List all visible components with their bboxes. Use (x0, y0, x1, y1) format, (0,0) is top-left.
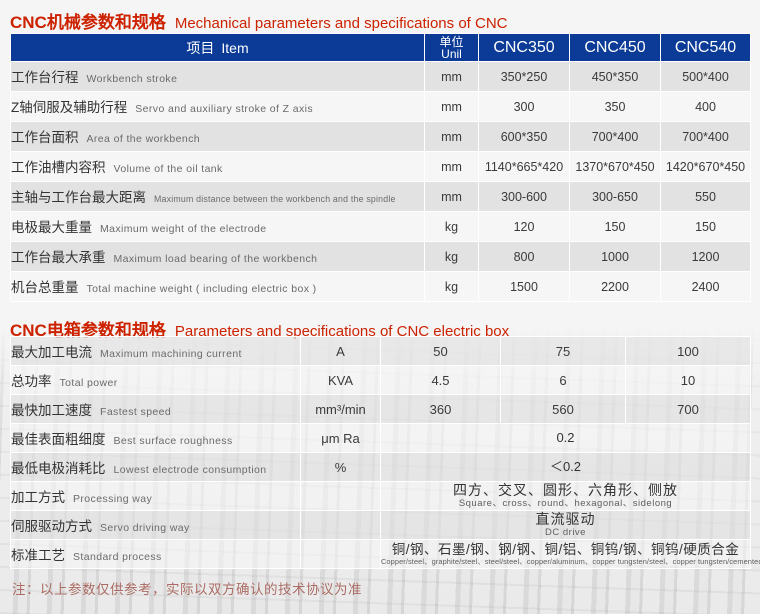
merged-value-en: Square、cross、round、hexagonal、sidelong (381, 499, 750, 509)
table-row: 机台总重量Total machine weight ( including el… (11, 272, 751, 302)
row-value-cnc540: 1200 (661, 242, 751, 272)
row-value-merged: 直流驱动 DC drive (381, 511, 751, 540)
row-unit: mm (425, 62, 479, 92)
row-label-en: Maximum distance between the workbench a… (154, 194, 396, 204)
merged-value-en: Copper/steel、graphite/steel、steel/steel、… (381, 558, 750, 566)
merged-value-cn: 铜/钢、石墨/钢、钢/钢、铜/铝、铜钨/钢、铜钨/硬质合金 (381, 543, 750, 557)
row-unit (301, 482, 381, 511)
row-value-cnc450: 700*400 (570, 122, 661, 152)
row-value-cnc350: 350*250 (479, 62, 570, 92)
row-value-merged: 铜/钢、石墨/钢、钢/钢、铜/铝、铜钨/钢、铜钨/硬质合金 Copper/ste… (381, 540, 751, 569)
row-label: 最低电极消耗比Lowest electrode consumption (11, 453, 301, 482)
row-value-cnc350: 800 (479, 242, 570, 272)
row-unit: mm (425, 92, 479, 122)
table-row: 工作油槽内容积Volume of the oil tank mm 1140*66… (11, 152, 751, 182)
section-title-mechanical: CNC机械参数和规格Mechanical parameters and spec… (10, 8, 508, 33)
header-unit-stack: 单位 Unil (425, 35, 478, 61)
merged-value: ＜0.2 (381, 460, 750, 474)
row-label-cn: 工作台最大承重 (11, 250, 106, 265)
row-label-en: Best surface roughness (114, 435, 233, 447)
row-label-cn: 工作油槽内容积 (11, 160, 106, 175)
table-row: 主轴与工作台最大距离Maximum distance between the w… (11, 182, 751, 212)
merged-value-cn: 四方、交叉、圆形、六角形、侧放 (381, 483, 750, 498)
row-unit (301, 540, 381, 569)
row-label-cn: 总功率 (11, 374, 52, 389)
row-label-cn: 加工方式 (11, 490, 65, 505)
row-label-en: Volume of the oil tank (114, 163, 223, 175)
row-label-en: Servo and auxiliary stroke of Z axis (135, 103, 313, 115)
row-value-cnc450: 2200 (570, 272, 661, 302)
row-label-cn: 工作台行程 (11, 70, 79, 85)
row-label: 最大加工电流Maximum machining current (11, 337, 301, 366)
row-label-en: Total power (60, 377, 118, 389)
table-row: 标准工艺Standard process 铜/钢、石墨/钢、钢/钢、铜/铝、铜钨… (11, 540, 751, 569)
row-label-en: Total machine weight ( including electri… (87, 283, 317, 295)
row-value-cnc450: 450*350 (570, 62, 661, 92)
row-unit: % (301, 453, 381, 482)
row-label: 加工方式Processing way (11, 482, 301, 511)
row-unit (301, 511, 381, 540)
row-value-col3: 700 (626, 395, 751, 424)
merged-value: 直流驱动 DC drive (381, 512, 750, 538)
row-label-en: Standard process (73, 551, 162, 563)
merged-value: 0.2 (381, 431, 750, 445)
header-model-cnc350: CNC350 (479, 34, 570, 62)
row-label-cn: 标准工艺 (11, 548, 65, 563)
row-label: 电极最大重量Maximum weight of the electrode (11, 212, 425, 242)
row-value-col2: 75 (501, 337, 626, 366)
table-header-row: 项目Item 单位 Unil CNC350 CNC450 CNC540 (11, 34, 751, 62)
header-unit-cn: 单位 (425, 36, 478, 48)
table-row: 最佳表面粗细度Best surface roughness μm Ra 0.2 (11, 424, 751, 453)
merged-value-en: DC drive (381, 528, 750, 538)
row-label: 最佳表面粗细度Best surface roughness (11, 424, 301, 453)
row-label-cn: 机台总重量 (11, 280, 79, 295)
row-unit: kg (425, 272, 479, 302)
row-value-cnc540: 500*400 (661, 62, 751, 92)
row-value-cnc350: 120 (479, 212, 570, 242)
row-unit: A (301, 337, 381, 366)
row-value-cnc540: 700*400 (661, 122, 751, 152)
row-value-cnc540: 400 (661, 92, 751, 122)
row-label: 工作台面积Area of the workbench (11, 122, 425, 152)
row-value-col1: 50 (381, 337, 501, 366)
row-unit: kg (425, 242, 479, 272)
spec-sheet-page: CNC机械参数和规格Mechanical parameters and spec… (0, 0, 760, 614)
section-title-mechanical-en: Mechanical parameters and specifications… (175, 15, 508, 32)
row-label-cn: 伺服驱动方式 (11, 519, 92, 534)
header-item: 项目Item (11, 34, 425, 62)
row-label-cn: 主轴与工作台最大距离 (11, 190, 146, 205)
electric-box-spec-table: 最大加工电流Maximum machining current A 50 75 … (10, 336, 751, 569)
header-unit: 单位 Unil (425, 34, 479, 62)
merged-value-cn: 直流驱动 (381, 512, 750, 527)
row-value-col1: 360 (381, 395, 501, 424)
row-value-cnc450: 1000 (570, 242, 661, 272)
row-label-en: Maximum load bearing of the workbench (114, 253, 318, 265)
row-label: 伺服驱动方式Servo driving way (11, 511, 301, 540)
row-value-cnc540: 550 (661, 182, 751, 212)
row-unit: kg (425, 212, 479, 242)
row-label: 工作台行程Workbench stroke (11, 62, 425, 92)
merged-value: 四方、交叉、圆形、六角形、侧放 Square、cross、round、hexag… (381, 483, 750, 509)
row-value-cnc350: 1140*665*420 (479, 152, 570, 182)
mechanical-spec-table: 项目Item 单位 Unil CNC350 CNC450 CNC540 工作台行… (10, 33, 751, 302)
row-label-en: Servo driving way (100, 522, 190, 534)
row-label-en: Maximum machining current (100, 348, 242, 360)
header-model-cnc540: CNC540 (661, 34, 751, 62)
row-label-cn: 最大加工电流 (11, 345, 92, 360)
row-unit: KVA (301, 366, 381, 395)
table-row: 工作台面积Area of the workbench mm 600*350 70… (11, 122, 751, 152)
row-value-col3: 10 (626, 366, 751, 395)
row-value-cnc450: 150 (570, 212, 661, 242)
header-item-cn: 项目 (186, 40, 214, 56)
row-label: 总功率Total power (11, 366, 301, 395)
row-label: 标准工艺Standard process (11, 540, 301, 569)
row-unit: mm³/min (301, 395, 381, 424)
row-unit: mm (425, 122, 479, 152)
table-row: 工作台行程Workbench stroke mm 350*250 450*350… (11, 62, 751, 92)
row-label-en: Processing way (73, 493, 152, 505)
table-row: 伺服驱动方式Servo driving way 直流驱动 DC drive (11, 511, 751, 540)
table-row: Z轴伺服及辅助行程Servo and auxiliary stroke of Z… (11, 92, 751, 122)
table-row: 总功率Total power KVA 4.5 6 10 (11, 366, 751, 395)
row-label-cn: 最快加工速度 (11, 403, 92, 418)
row-label: 最快加工速度Fastest speed (11, 395, 301, 424)
header-model-cnc450: CNC450 (570, 34, 661, 62)
table-row: 工作台最大承重Maximum load bearing of the workb… (11, 242, 751, 272)
table-row: 最大加工电流Maximum machining current A 50 75 … (11, 337, 751, 366)
table-row: 最低电极消耗比Lowest electrode consumption % ＜0… (11, 453, 751, 482)
row-value-cnc450: 300-650 (570, 182, 661, 212)
row-label-en: Workbench stroke (87, 73, 178, 85)
row-label-en: Maximum weight of the electrode (100, 223, 266, 235)
row-label: Z轴伺服及辅助行程Servo and auxiliary stroke of Z… (11, 92, 425, 122)
row-label: 工作油槽内容积Volume of the oil tank (11, 152, 425, 182)
merged-value-cn: ＜0.2 (381, 460, 750, 474)
row-label: 机台总重量Total machine weight ( including el… (11, 272, 425, 302)
row-label-en: Area of the workbench (87, 133, 200, 145)
footer-note: 注：以上参数仅供参考，实际以双方确认的技术协议为准 (12, 578, 362, 598)
merged-value: 铜/钢、石墨/钢、钢/钢、铜/铝、铜钨/钢、铜钨/硬质合金 Copper/ste… (381, 543, 750, 566)
row-value-cnc350: 1500 (479, 272, 570, 302)
row-value-col1: 4.5 (381, 366, 501, 395)
table-row: 电极最大重量Maximum weight of the electrode kg… (11, 212, 751, 242)
row-value-cnc450: 350 (570, 92, 661, 122)
row-label-cn: Z轴伺服及辅助行程 (11, 100, 127, 115)
row-label-cn: 工作台面积 (11, 130, 79, 145)
row-unit: mm (425, 152, 479, 182)
row-value-merged: 0.2 (381, 424, 751, 453)
row-unit: mm (425, 182, 479, 212)
merged-value-cn: 0.2 (381, 431, 750, 445)
row-value-cnc540: 1420*670*450 (661, 152, 751, 182)
row-value-cnc350: 600*350 (479, 122, 570, 152)
table-row: 最快加工速度Fastest speed mm³/min 360 560 700 (11, 395, 751, 424)
row-label: 主轴与工作台最大距离Maximum distance between the w… (11, 182, 425, 212)
table-row: 加工方式Processing way 四方、交叉、圆形、六角形、侧放 Squar… (11, 482, 751, 511)
row-value-cnc350: 300 (479, 92, 570, 122)
row-value-cnc540: 150 (661, 212, 751, 242)
row-value-cnc350: 300-600 (479, 182, 570, 212)
row-unit: μm Ra (301, 424, 381, 453)
row-label-cn: 最低电极消耗比 (11, 461, 106, 476)
header-item-en: Item (221, 40, 248, 56)
row-value-cnc540: 2400 (661, 272, 751, 302)
row-label-cn: 最佳表面粗细度 (11, 432, 106, 447)
row-value-col2: 560 (501, 395, 626, 424)
row-label: 工作台最大承重Maximum load bearing of the workb… (11, 242, 425, 272)
row-label-en: Lowest electrode consumption (114, 464, 267, 476)
header-unit-en: Unil (425, 48, 478, 60)
section-title-mechanical-cn: CNC机械参数和规格 (10, 13, 166, 32)
row-label-en: Fastest speed (100, 406, 171, 418)
row-value-col2: 6 (501, 366, 626, 395)
row-value-merged: ＜0.2 (381, 453, 751, 482)
row-value-col3: 100 (626, 337, 751, 366)
row-label-cn: 电极最大重量 (11, 220, 92, 235)
row-value-merged: 四方、交叉、圆形、六角形、侧放 Square、cross、round、hexag… (381, 482, 751, 511)
row-value-cnc450: 1370*670*450 (570, 152, 661, 182)
